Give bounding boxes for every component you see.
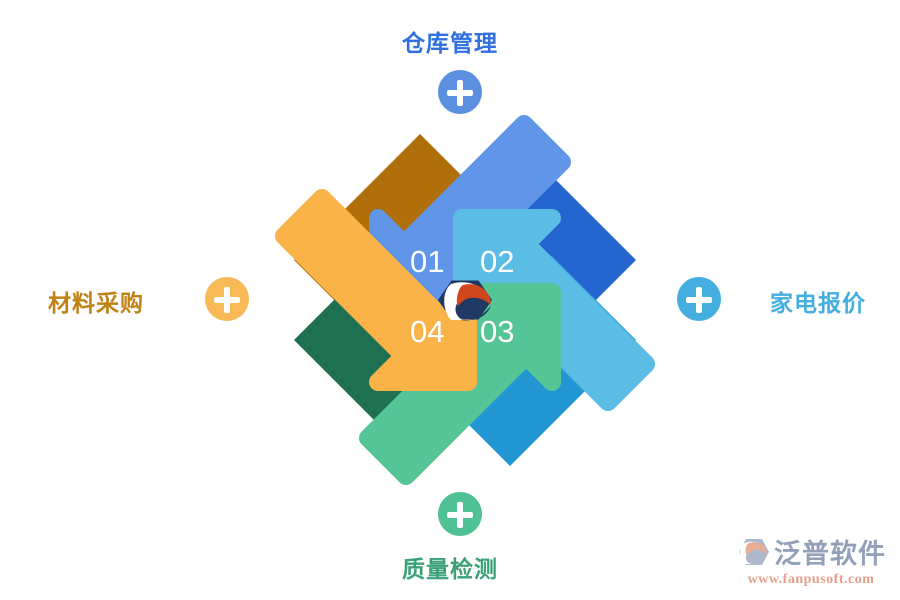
label-warehouse-management: 仓库管理 [0,24,900,58]
step-number-02: 02 [480,244,514,279]
plus-icon-left[interactable] [205,277,249,321]
plus-icon-right[interactable] [677,277,721,321]
watermark-mark-icon [736,537,770,567]
step-number-03: 03 [480,314,514,349]
infographic-canvas: 仓库管理 家电报价 质量检测 材料采购 [0,0,900,600]
step-number-04: 04 [410,314,444,349]
step-number-01: 01 [410,244,444,279]
watermark-brand: 泛普软件 [774,532,886,571]
label-material-procurement: 材料采购 [48,284,144,318]
watermark-url: www.fanpusoft.com [748,572,875,588]
label-appliance-quotation: 家电报价 [770,284,866,318]
plus-icon-top[interactable] [438,70,482,114]
watermark-logo: 泛普软件 www.fanpusoft.com [736,532,886,588]
plus-icon-bottom[interactable] [438,492,482,536]
cycle-pinwheel-diagram: 01 02 03 04 [270,110,660,490]
